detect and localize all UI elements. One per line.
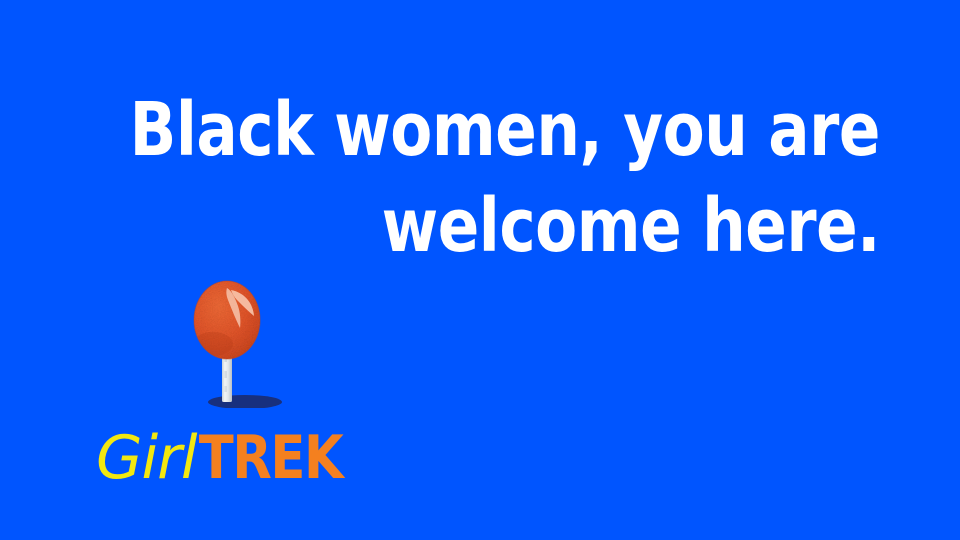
- logo-trek-text: TREK: [198, 428, 342, 488]
- lollipop-candy: [193, 281, 260, 359]
- headline-line-1: Black women, you are: [70, 82, 880, 178]
- girltrek-logo: Girl TREK: [96, 428, 346, 498]
- ground-shadow: [208, 395, 282, 408]
- headline-line-2: welcome here.: [70, 178, 880, 274]
- slide-canvas: Black women, you are welcome here.: [0, 0, 960, 540]
- logo-girl-text: Girl: [96, 428, 197, 488]
- lollipop-illustration: [183, 276, 293, 408]
- page-title: Black women, you are welcome here.: [70, 82, 880, 274]
